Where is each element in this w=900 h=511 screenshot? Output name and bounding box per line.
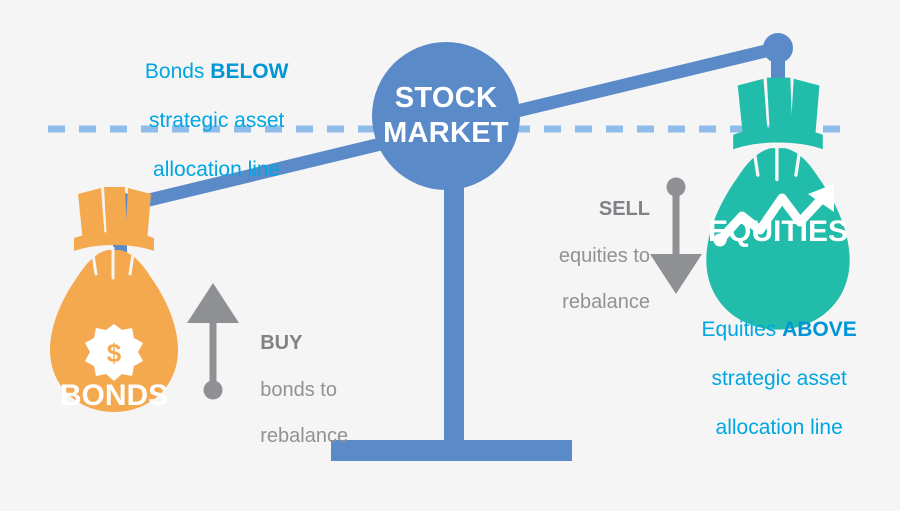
bonds-note-line2: strategic asset xyxy=(149,109,284,132)
buy-note-line1: BUY xyxy=(260,332,302,354)
bonds-below-note: Bonds BELOW strategic asset allocation l… xyxy=(105,36,305,207)
stand-post xyxy=(444,170,464,442)
bonds-note-line3: allocation line xyxy=(153,158,280,181)
fulcrum-label-line2: MARKET xyxy=(383,116,509,151)
equities-note-line2: strategic asset xyxy=(711,367,846,390)
buy-note-line2: bonds to xyxy=(260,379,337,401)
stock-market-fulcrum[interactable]: STOCK MARKET xyxy=(372,42,520,190)
sell-arrow-down-icon xyxy=(650,178,702,295)
equities-pivot-joint xyxy=(763,33,793,63)
bonds-bag[interactable]: $ BONDS xyxy=(50,187,178,412)
bonds-bag-label: BONDS xyxy=(60,379,168,412)
buy-action-note: BUY bonds to rebalance xyxy=(238,309,363,471)
infographic-canvas: $ BONDS EQUITIES STOCK MARKET Bonds BELO… xyxy=(0,0,900,511)
svg-text:$: $ xyxy=(107,338,122,368)
equities-above-note: Equities ABOVE strategic asset allocatio… xyxy=(645,294,890,465)
sell-note-line3: rebalance xyxy=(562,291,650,313)
sell-action-note: SELL equities to rebalance xyxy=(520,175,650,337)
equities-bag[interactable]: EQUITIES xyxy=(706,78,849,330)
buy-note-line3: rebalance xyxy=(260,425,348,447)
equities-bag-label: EQUITIES xyxy=(708,215,848,248)
equities-note-line1: Equities ABOVE xyxy=(702,318,857,341)
sell-note-line1: SELL xyxy=(599,198,650,220)
bonds-note-line1: Bonds BELOW xyxy=(145,60,289,83)
sell-note-line2: equities to xyxy=(559,245,650,267)
equities-note-line3: allocation line xyxy=(716,416,843,439)
stand-base xyxy=(331,440,572,461)
buy-arrow-up-icon xyxy=(187,283,239,400)
fulcrum-label-line1: STOCK xyxy=(395,81,497,116)
